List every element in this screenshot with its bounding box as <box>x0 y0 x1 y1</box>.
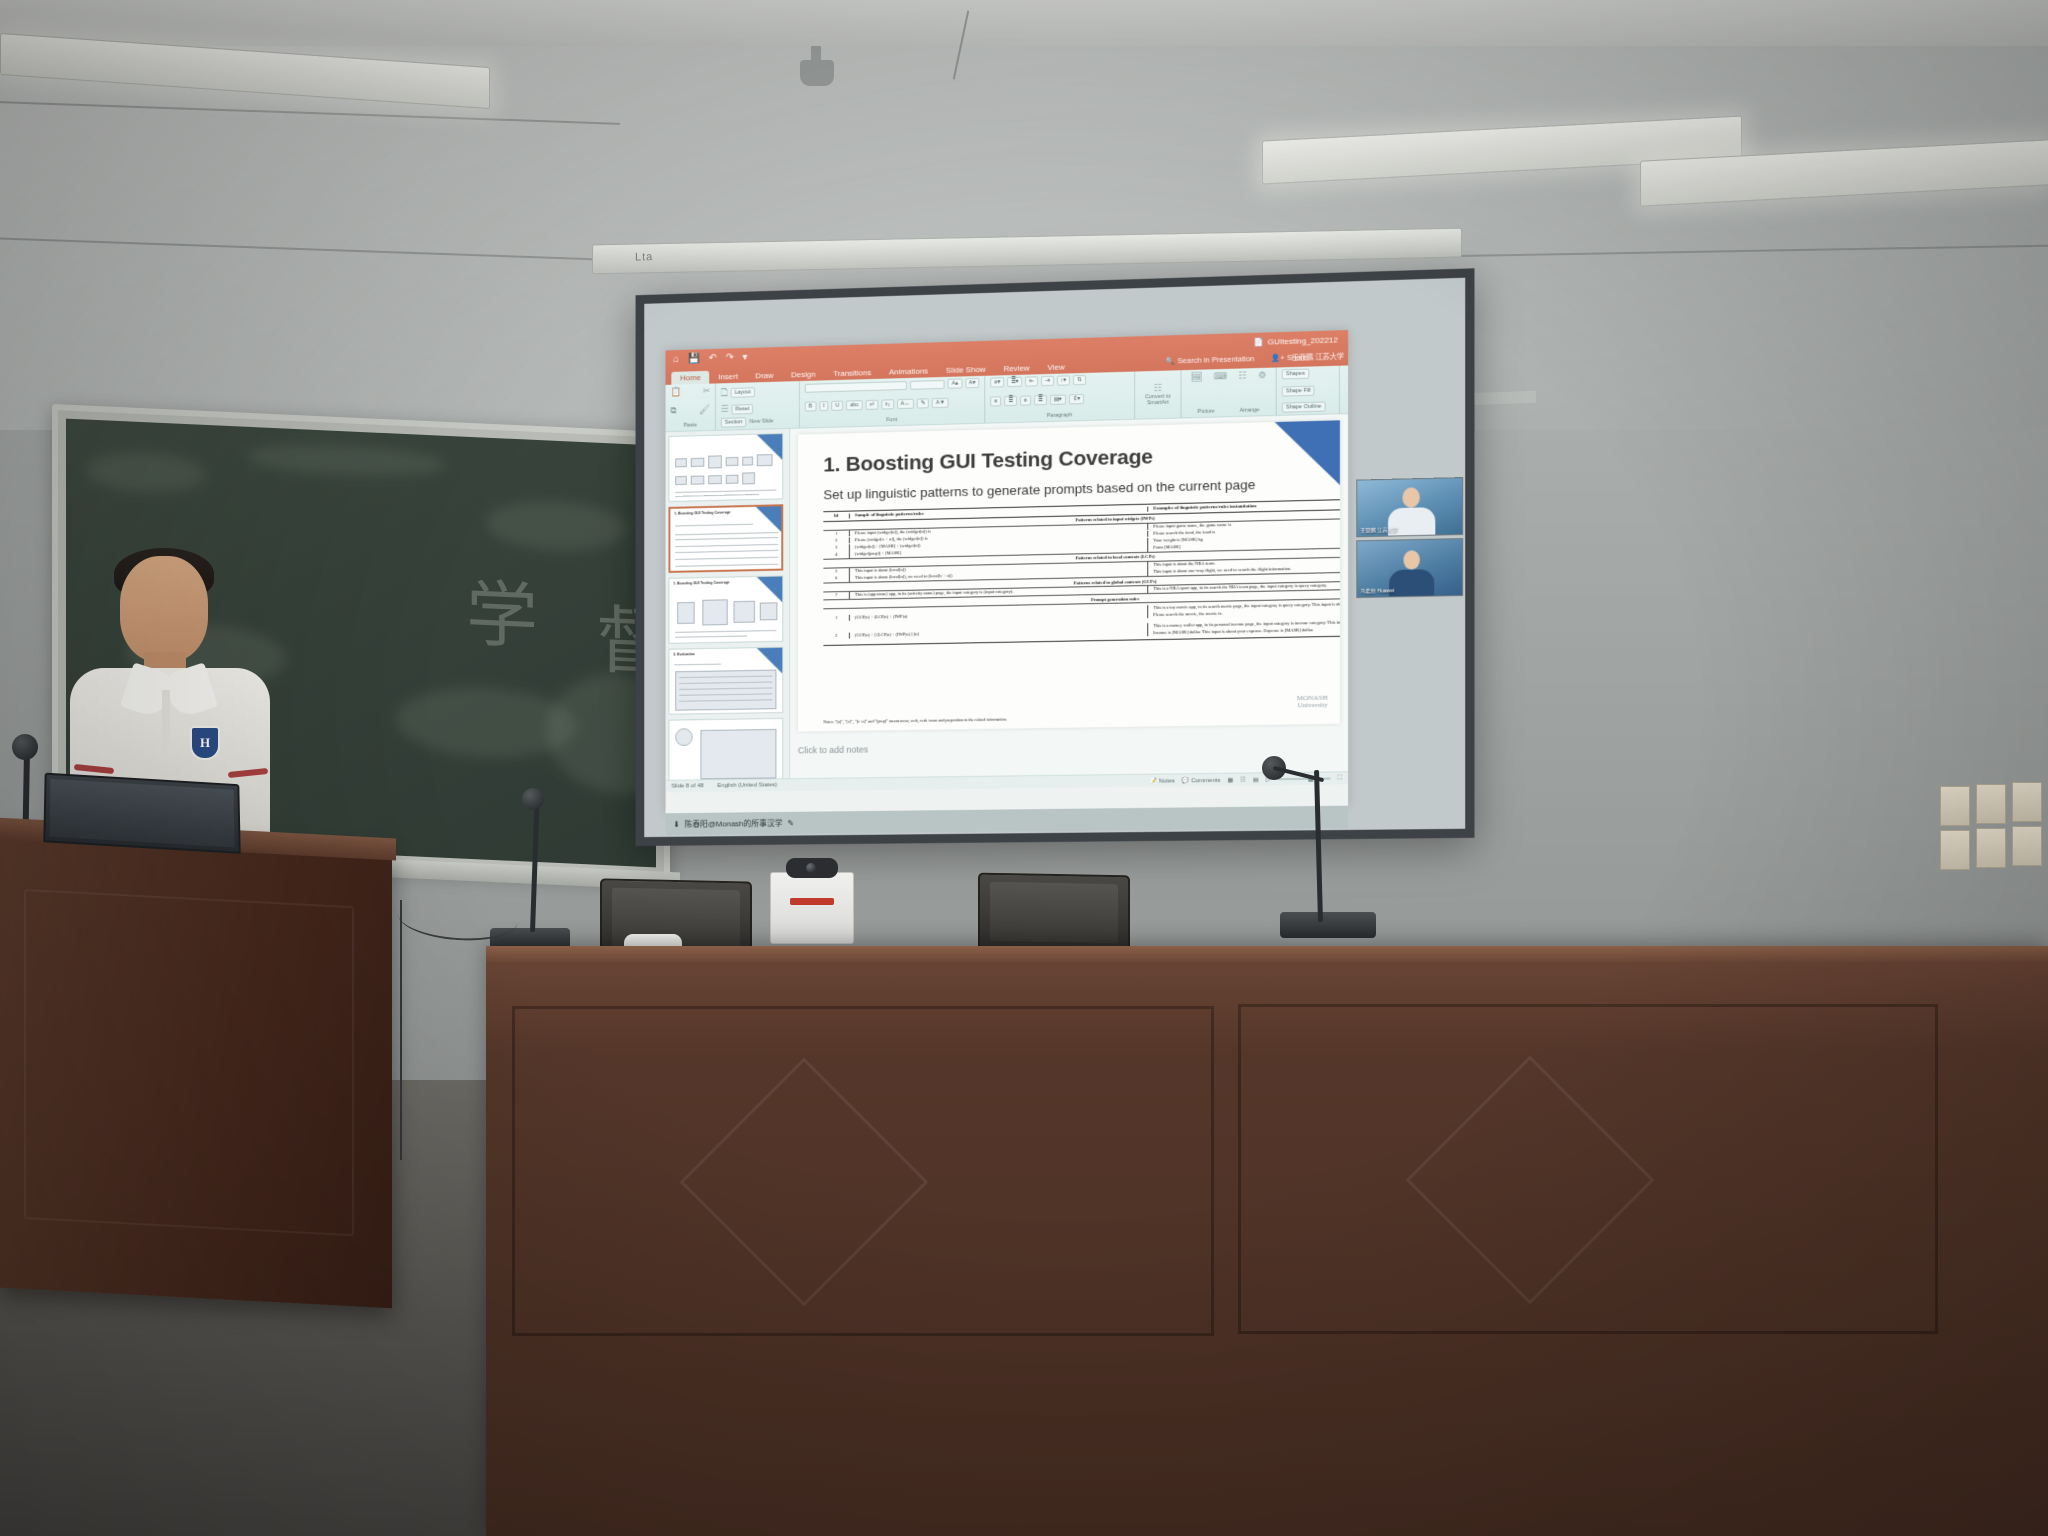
shape-outline-button[interactable]: Shape Outline <box>1282 401 1326 412</box>
row-id: 1 <box>823 530 849 537</box>
ceiling-strip <box>0 0 2048 46</box>
desk-microphone-base-right <box>1280 912 1376 938</box>
wall-box <box>2012 826 2042 866</box>
normal-view-icon[interactable]: ▦ <box>1227 776 1233 783</box>
video-participant-panel[interactable]: 王亚鹏 江苏大学 马希特 Huawei <box>1356 477 1463 601</box>
edit-pencil-icon[interactable]: ✎ <box>787 818 794 827</box>
tab-view[interactable]: View <box>1039 360 1074 374</box>
participant-name: 王亚鹏 江苏大学 <box>1360 526 1397 534</box>
download-icon[interactable]: ⬇ <box>673 819 679 828</box>
wall-box <box>1940 830 1970 870</box>
bold-button[interactable]: B <box>805 401 816 411</box>
slide-thumbnail[interactable] <box>668 433 783 502</box>
font-family-select[interactable] <box>805 380 907 392</box>
slide-subtitle: Set up linguistic patterns to generate p… <box>823 477 1255 502</box>
ribbon-group-label-clipboard: Paste <box>670 422 710 429</box>
fit-to-window-icon[interactable]: ⛶ <box>1338 775 1342 782</box>
align-left-icon[interactable]: ≡ <box>990 396 1001 406</box>
video-participant-tile[interactable]: 马希特 Huawei <box>1356 538 1463 598</box>
conference-device <box>770 872 854 944</box>
language-label[interactable]: English (United States) <box>717 782 777 789</box>
notes-button[interactable]: 📝 Notes <box>1150 777 1175 784</box>
thumb-title-label: 1. Boosting GUI Testing Coverage <box>673 580 751 586</box>
shapes-button[interactable]: Shapes <box>1282 369 1309 380</box>
align-center-icon[interactable]: ≣ <box>1004 395 1017 405</box>
housing-brand-label: Lta <box>635 251 653 263</box>
text-box-icon[interactable]: ⌨ <box>1214 371 1227 382</box>
paste-icon[interactable]: 📋 <box>670 386 681 397</box>
reading-view-icon[interactable]: ▤ <box>1253 776 1259 783</box>
align-right-icon[interactable]: ≡ <box>1020 395 1031 405</box>
comments-button[interactable]: 💬 Comments <box>1182 776 1221 784</box>
conference-table <box>486 946 2048 1536</box>
slide-thumbnail[interactable] <box>668 718 783 780</box>
ribbon-group-label-convert: Convert to SmartArt <box>1140 393 1175 406</box>
ribbon-group-label-paragraph: Paragraph <box>990 411 1129 421</box>
slide-thumbnail-selected[interactable]: 1. Boosting GUI Testing Coverage <box>668 504 783 573</box>
row-id: 6 <box>823 575 849 582</box>
podium-laptop[interactable] <box>43 773 240 854</box>
thumb-title-label: 3. Evaluation <box>673 651 751 657</box>
customize-icon[interactable]: ▾ <box>743 352 748 363</box>
arrange-icon[interactable]: ☷ <box>1238 370 1246 381</box>
row-id: 2 <box>823 632 849 639</box>
slide-canvas-area[interactable]: 1. Boosting GUI Testing Coverage Set up … <box>790 414 1348 778</box>
underline-button[interactable]: U <box>831 400 843 410</box>
ribbon-group-font[interactable]: A▴ A▾ B I U abc x² x₂ A↔ ✎ A▼ <box>800 376 985 428</box>
row-id: 3 <box>823 544 849 551</box>
copy-icon[interactable]: ⧉ <box>670 405 676 416</box>
chair <box>978 873 1130 956</box>
search-box[interactable]: 🔍 Search in Presentation <box>1166 354 1254 366</box>
subscript-button[interactable]: x₂ <box>881 399 894 409</box>
podium-microphone-head <box>12 734 38 760</box>
tab-insert[interactable]: Insert <box>710 370 747 384</box>
ribbon-group-slides[interactable]: 🗋 Layout ☰ Reset Section New Slide <box>716 381 800 430</box>
podium <box>0 828 392 1309</box>
webcam <box>786 858 838 878</box>
podium-front-panel <box>24 889 354 1236</box>
wall-box <box>1976 784 2006 824</box>
slide-thumbnail[interactable]: 1. Boosting GUI Testing Coverage <box>668 575 783 643</box>
undo-icon[interactable]: ↶ <box>709 353 717 364</box>
italic-button[interactable]: I <box>819 401 828 411</box>
justify-icon[interactable]: ≣ <box>1034 395 1047 405</box>
superscript-button[interactable]: x² <box>866 399 878 409</box>
new-slide-icon[interactable]: 🗋 <box>721 385 728 401</box>
table-footnote: Notes: "[n]", "[v]", "[v+n]" and "[prep]… <box>823 717 1007 725</box>
thumb-corner-decoration <box>757 576 782 602</box>
increase-font-icon[interactable]: A▴ <box>948 378 962 388</box>
slide-thumbnail-pane[interactable]: 1. Boosting GUI Testing Coverage 1. Boo <box>666 429 791 780</box>
decrease-indent-icon[interactable]: ⇤ <box>1025 376 1038 386</box>
presenter-shirt-logo: H <box>190 726 220 760</box>
quick-styles-icon[interactable]: ⚙ <box>1258 370 1266 381</box>
row-id: 1 <box>823 614 849 621</box>
search-placeholder-label: Search in Presentation <box>1178 354 1255 365</box>
editor-body: 1. Boosting GUI Testing Coverage 1. Boo <box>666 414 1349 780</box>
thumb-corner-decoration <box>756 506 781 532</box>
redo-icon[interactable]: ↷ <box>726 352 734 363</box>
slide-thumbnail[interactable]: 3. Evaluation <box>668 647 783 715</box>
sorter-view-icon[interactable]: ☷ <box>1240 776 1245 783</box>
ribbon-group-label-slides: New Slide <box>749 418 773 425</box>
tab-design[interactable]: Design <box>782 367 824 381</box>
linguistic-patterns-table: Id Sample of linguistic patterns/rules E… <box>823 498 1340 647</box>
decrease-font-icon[interactable]: A▾ <box>965 378 979 388</box>
strikethrough-button[interactable]: abc <box>846 400 863 410</box>
row-id: 5 <box>823 568 849 575</box>
ribbon-group-convert[interactable]: ☷ Convert to SmartArt <box>1135 370 1181 418</box>
numbering-icon[interactable]: ≣▾ <box>1007 377 1022 387</box>
share-icon: 👤+ <box>1271 353 1285 362</box>
ceiling-fixture <box>800 60 834 86</box>
header-id: Id <box>823 513 849 519</box>
increase-indent-icon[interactable]: ⇥ <box>1041 376 1054 386</box>
text-highlight-icon[interactable]: ✎ <box>917 398 929 408</box>
file-icon: 📄 <box>1253 338 1263 347</box>
file-title-label: GUItesting_202212 <box>1268 335 1338 346</box>
taskbar-label[interactable]: 陈春阳@Monash的所事汉学 <box>685 817 783 829</box>
bullets-icon[interactable]: ≡▾ <box>990 377 1004 387</box>
row-pattern: (GCP|n) + (LCP|n) + (IWP|n) <box>849 609 1147 621</box>
ribbon-label-arrange: Arrange <box>1240 407 1260 414</box>
thumb-title-label: 1. Boosting GUI Testing Coverage <box>674 510 752 516</box>
tab-review[interactable]: Review <box>995 361 1039 375</box>
row-id: 2 <box>823 537 849 544</box>
ribbon-group-paragraph[interactable]: ≡▾ ≣▾ ⇤ ⇥ ↕▾ ⇅ ≡ ≣ ≡ ≣ ▤▾ <box>985 372 1135 423</box>
picture-icon[interactable]: 🖼 <box>1191 372 1203 383</box>
wall-box <box>1976 828 2006 868</box>
search-icon: 🔍 <box>1166 356 1175 365</box>
align-text-icon[interactable]: ⇕▾ <box>1069 394 1084 404</box>
device-indicator-strip <box>790 898 834 905</box>
row-id: 7 <box>823 592 849 599</box>
character-spacing-icon[interactable]: A↔ <box>897 398 914 408</box>
current-slide[interactable]: 1. Boosting GUI Testing Coverage Set up … <box>798 420 1340 731</box>
ribbon-group-insert[interactable]: 🖼 ⌨ ☷ ⚙ Picture Arrange <box>1182 367 1277 417</box>
format-painter-icon[interactable]: 🖌 <box>699 404 710 415</box>
row-example: This is a money wallet app, in its perso… <box>1147 619 1340 637</box>
monash-watermark: MONASHUniversity <box>1297 694 1328 710</box>
reset-button[interactable]: Reset <box>732 404 754 414</box>
section-button[interactable]: Section <box>721 417 747 428</box>
presenter-placket <box>162 690 170 760</box>
row-id: 4 <box>823 551 849 558</box>
row-pattern: (GCP|n) + [ (LCP|n) + (IWP|n) ] [n] <box>849 627 1147 639</box>
font-size-select[interactable] <box>910 379 945 389</box>
wall-box <box>1940 786 1970 826</box>
presenter-head <box>120 556 208 662</box>
cable <box>400 900 460 1160</box>
participant-name: 马希特 Huawei <box>1360 587 1394 595</box>
ribbon-group-drawing[interactable]: Shapes Shape Fill Shape Outline <box>1277 366 1340 415</box>
video-participant-tile[interactable]: 王亚鹏 江苏大学 <box>1356 477 1463 537</box>
slide-counter: Slide 8 of 48 <box>671 783 703 789</box>
account-label[interactable]: 王亚鹏 江苏大学 <box>1292 351 1344 363</box>
laptop-screen[interactable] <box>49 779 234 848</box>
section-icon[interactable]: ☰ <box>721 404 729 415</box>
projection-screen: ⌂ 💾 ↶ ↷ ▾ 📄 GUItesting_202212 Home Inser… <box>636 268 1475 846</box>
line-spacing-icon[interactable]: ↕▾ <box>1057 375 1071 385</box>
font-color-icon[interactable]: A▼ <box>932 397 949 407</box>
layout-button[interactable]: Layout <box>731 387 755 398</box>
cut-icon[interactable]: ✂ <box>703 386 710 397</box>
row-example: This is a toy movie app, in its search m… <box>1147 600 1340 618</box>
notes-pane[interactable]: Click to add notes <box>798 733 1340 774</box>
microphone-head <box>522 788 544 810</box>
save-icon[interactable]: 💾 <box>688 353 700 364</box>
slide-title: 1. Boosting GUI Testing Coverage <box>823 445 1152 477</box>
tab-home[interactable]: Home <box>671 371 709 385</box>
smartart-icon[interactable]: ☷ <box>1154 383 1162 394</box>
home-icon[interactable]: ⌂ <box>673 354 679 365</box>
powerpoint-window[interactable]: ⌂ 💾 ↶ ↷ ▾ 📄 GUItesting_202212 Home Inser… <box>666 330 1349 813</box>
wall-box <box>2012 782 2042 822</box>
lecture-hall-scene: Lta 学 督 ⌂ 💾 ↶ <box>0 0 2048 1536</box>
slide-corner-decoration <box>1275 420 1340 486</box>
text-direction-icon[interactable]: ⇅ <box>1073 375 1086 385</box>
shape-fill-button[interactable]: Shape Fill <box>1282 385 1315 396</box>
projector-mount <box>1466 391 1536 405</box>
chalk-character-1: 学 <box>466 555 538 663</box>
columns-icon[interactable]: ▤▾ <box>1050 394 1066 404</box>
ribbon-label-picture: Picture <box>1197 409 1214 416</box>
window-title: 📄 GUItesting_202212 <box>1253 330 1337 352</box>
table-front-edge <box>486 946 2048 962</box>
tab-draw[interactable]: Draw <box>747 369 783 383</box>
ribbon-group-clipboard[interactable]: 📋 ✂ ⧉ 🖌 Paste <box>666 383 716 431</box>
